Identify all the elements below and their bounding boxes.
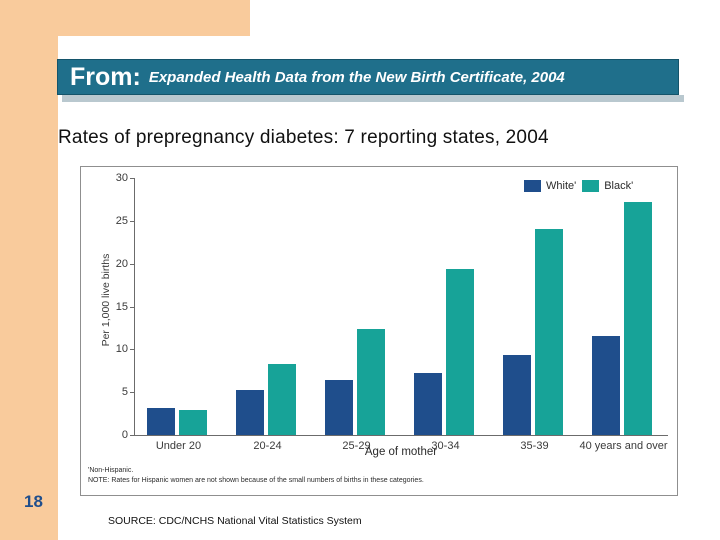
y-tick-mark [130,435,134,436]
bar [414,373,442,435]
bar [147,408,175,435]
bar [446,269,474,435]
source-line: SOURCE: CDC/NCHS National Vital Statisti… [108,515,362,527]
page-number: 18 [24,492,43,512]
y-axis-label: Per 1,000 live births [95,178,111,436]
left-color-band [0,0,58,540]
y-tick-label: 15 [116,301,128,313]
title-bar: From: Expanded Health Data from the New … [57,59,679,95]
legend-swatch [524,180,541,192]
bar [592,336,620,435]
chart-plot-area: 051015202530 Under 2020-2425-2930-3435-3… [134,178,668,436]
y-tick-label: 20 [116,258,128,270]
bar-group: 25-29 [312,178,401,435]
legend-label: Black' [604,180,633,192]
footnote-2: NOTE: Rates for Hispanic women are not s… [88,476,648,486]
bar-group: 40 years and over [579,178,668,435]
y-tick-label: 0 [122,429,128,441]
legend-item: White' [524,180,576,192]
slide-subtitle: Rates of prepregnancy diabetes: 7 report… [58,127,718,149]
bar-group: 20-24 [223,178,312,435]
y-tick-label: 30 [116,172,128,184]
top-color-band [58,0,250,36]
footnote-1: 'Non-Hispanic. [88,466,648,476]
bar [268,364,296,435]
title-italic-text: Expanded Health Data from the New Birth … [149,70,565,85]
bar [236,390,264,435]
bar [535,229,563,435]
y-tick-label: 10 [116,343,128,355]
title-prefix: From: [70,65,141,90]
legend-label: White' [546,180,576,192]
bar [624,202,652,435]
legend-swatch [582,180,599,192]
chart-legend: White'Black' [524,180,633,192]
x-axis-label: Age of mother [134,446,668,458]
y-tick-label: 5 [122,386,128,398]
chart-footnotes: 'Non-Hispanic. NOTE: Rates for Hispanic … [88,466,648,486]
bar-group: 35-39 [490,178,579,435]
legend-item: Black' [582,180,633,192]
y-tick-label: 25 [116,215,128,227]
bar-group: Under 20 [134,178,223,435]
bar [357,329,385,435]
title-bar-shadow [62,95,684,102]
bar [503,355,531,435]
bar [179,410,207,435]
x-axis-line [134,435,668,436]
bar [325,380,353,435]
bar-group: 30-34 [401,178,490,435]
